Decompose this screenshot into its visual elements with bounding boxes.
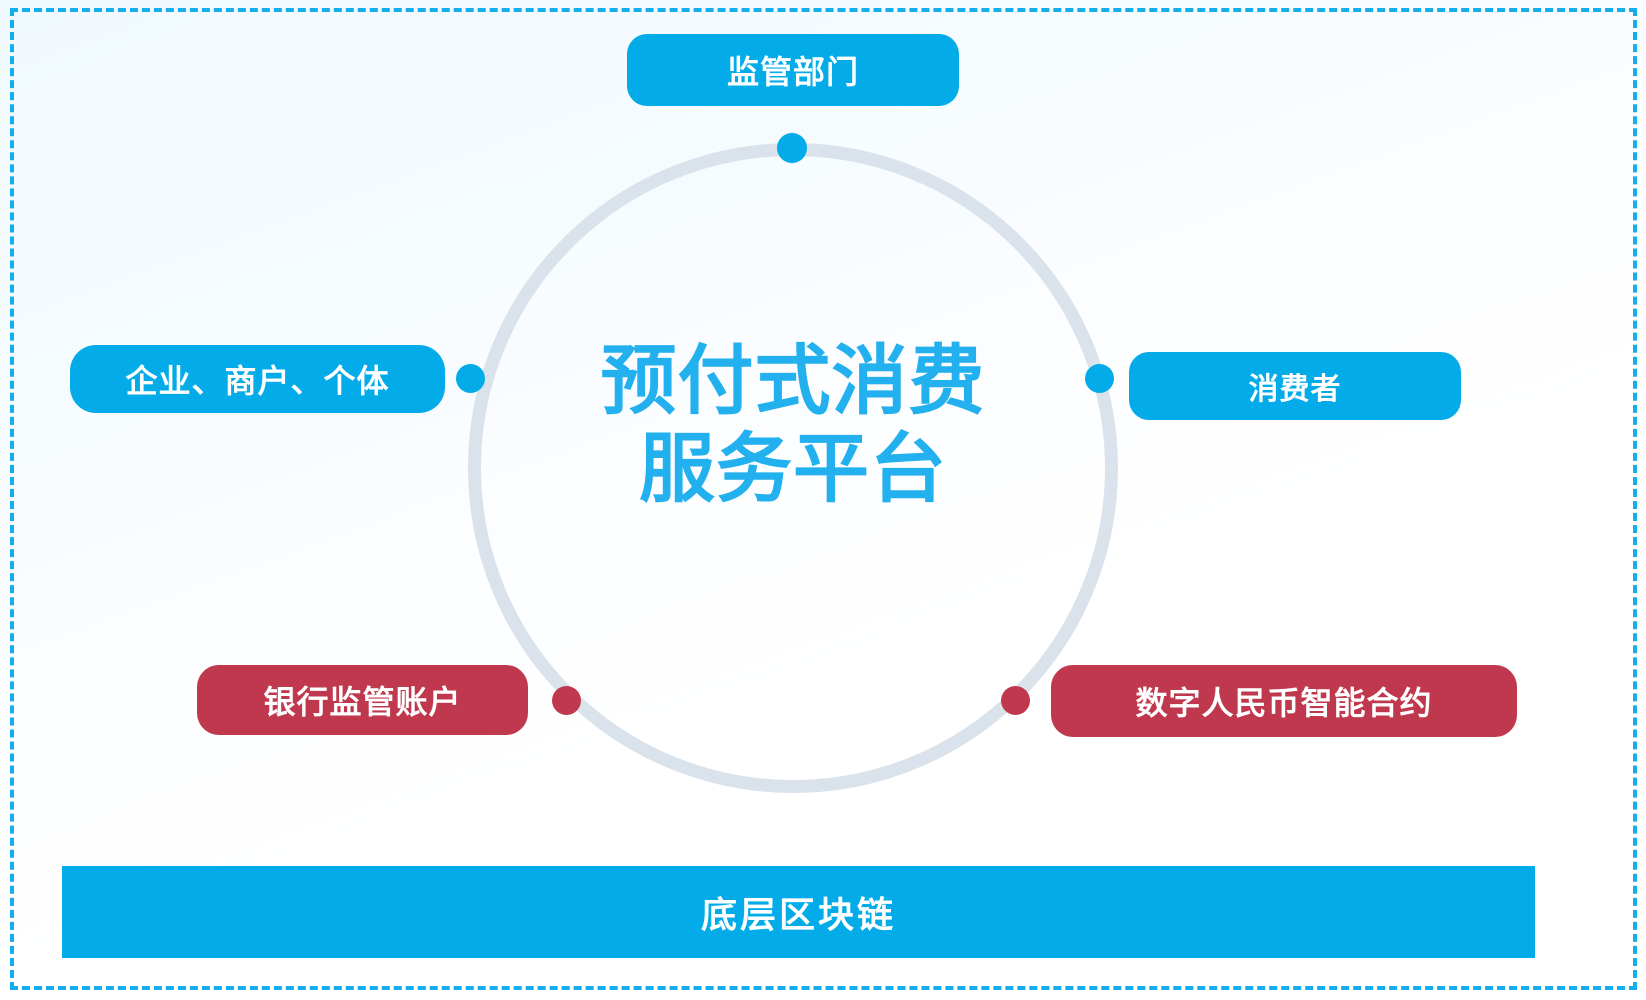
foundation-blockchain-bar[interactable]: 底层区块链 [62,866,1535,958]
node-smart-contract-pill[interactable]: 数字人民币智能合约 [1051,665,1517,737]
center-title-line-1: 预付式消费 [601,339,986,424]
node-enterprise-label: 企业、商户、个体 [125,356,389,402]
node-enterprise-pill[interactable]: 企业、商户、个体 [70,345,445,413]
node-bank-account-label: 银行监管账户 [263,677,461,723]
diagram-canvas: 预付式消费服务平台 监管部门 企业、商户、个体 消费者 银行监管账户 数字人民币… [0,0,1646,1000]
node-regulator-dot [777,133,807,163]
foundation-blockchain-label: 底层区块链 [701,886,896,938]
node-bank-account-dot [552,686,581,715]
node-enterprise-dot [456,364,485,393]
node-bank-account-pill[interactable]: 银行监管账户 [197,665,528,735]
node-regulator-pill[interactable]: 监管部门 [627,34,959,106]
node-smart-contract-label: 数字人民币智能合约 [1135,678,1432,724]
center-platform-title: 预付式消费服务平台 [533,338,1053,514]
node-smart-contract-dot [1001,686,1030,715]
node-consumer-dot [1085,364,1114,393]
node-regulator-label: 监管部门 [727,47,859,93]
node-consumer-label: 消费者 [1249,364,1342,408]
center-title-line-2: 服务平台 [639,427,947,512]
node-consumer-pill[interactable]: 消费者 [1129,352,1461,420]
